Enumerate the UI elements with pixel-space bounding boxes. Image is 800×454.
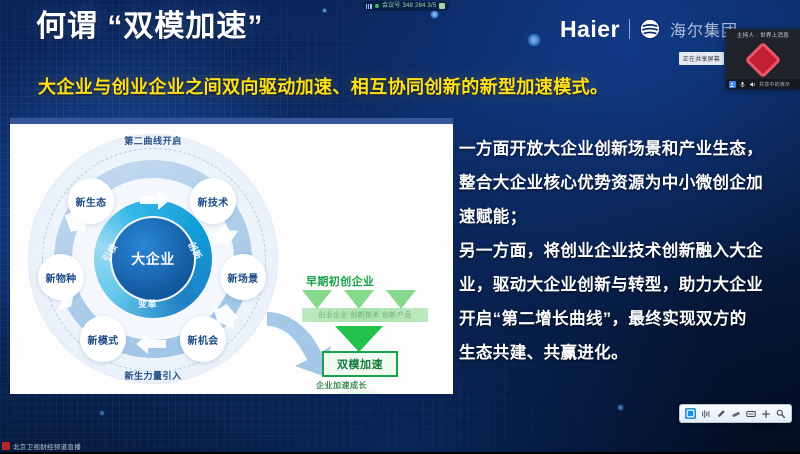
eraser-tool-icon[interactable] — [730, 408, 741, 419]
bokeh-dot — [99, 410, 105, 416]
arrow-down-icon — [335, 326, 383, 352]
brand-lockup: Haier 海尔集团 — [560, 16, 738, 42]
meeting-id-text: 会议号 348 284 3/5 — [382, 1, 436, 11]
annotation-toolbar[interactable] — [679, 404, 792, 423]
signal-icon — [366, 4, 372, 9]
participant-name-bar: 主持人 · 世界上消息 — [726, 29, 800, 41]
brand-divider — [629, 19, 630, 39]
haier-wordmark: Haier — [560, 16, 620, 42]
bokeh-dot — [617, 404, 624, 411]
startup-flow-title: 早期初创企业 — [306, 273, 374, 289]
arrow-tool-icon[interactable] — [760, 408, 771, 419]
startup-ring-diagram: 创业 企业 创业私董会 运营 品牌 培训 导师 — [303, 390, 425, 394]
slide-graphic-card: 大企业 引领 创新 变革 新生态 新技术 新场景 新机会 新模式 新物种 — [10, 118, 453, 394]
spotlight-tool-icon[interactable] — [775, 408, 786, 419]
microphone-icon[interactable] — [739, 81, 746, 88]
paragraph-line: 另一方面，将创业企业技术创新融入大企 — [459, 236, 791, 267]
avatar — [745, 42, 782, 79]
dual-mode-accelerator-box: 双模加速 — [322, 351, 398, 377]
ring-caption-bottom: 新生力量引入 — [28, 369, 278, 382]
participant-status-label: 共享中的演示 — [759, 81, 790, 88]
participants-icon[interactable] — [729, 81, 736, 88]
participant-video-thumbnail[interactable]: 主持人 · 世界上消息 共享中的演示 — [726, 29, 800, 89]
participant-status-bar: 共享中的演示 — [726, 79, 800, 89]
startup-band-label: 创业企业 创新技术 创新产品 — [318, 310, 412, 320]
channel-watermark-label: 北京卫视财经频道直播 — [13, 441, 81, 451]
draw-tool-icon[interactable] — [700, 408, 711, 419]
channel-logo-icon — [2, 442, 10, 450]
screen-share-tag-label: 正在共享屏幕 — [683, 54, 720, 63]
chevron-down-icon — [302, 290, 332, 309]
slide-paragraph: 一方面开放大企业创新场景和产业生态， 整合大企业核心优势资源为中小微创企加 速赋… — [459, 134, 791, 372]
highlighter-tool-icon[interactable] — [715, 408, 726, 419]
slide-title: 何谓 “双模加速” — [36, 9, 263, 45]
paragraph-line: 开启“第二增长曲线”，最终实现双方的 — [459, 304, 791, 335]
dual-mode-accelerator-label: 双模加速 — [337, 356, 383, 372]
bokeh-dot — [527, 33, 541, 47]
slide-card-top-strip — [10, 118, 453, 124]
paragraph-line: 业，驱动大企业创新与转型，助力大企业 — [459, 270, 791, 301]
select-tool-icon[interactable] — [685, 408, 696, 419]
chevron-down-icon — [344, 290, 374, 309]
ring-caption-top: 第二曲线开启 — [28, 134, 278, 147]
startup-band: 创业企业 创新技术 创新产品 — [302, 308, 428, 322]
paragraph-line: 速赋能； — [459, 202, 791, 233]
slide-subtitle: 大企业与创业企业之间双向驱动加速、相互协同创新的新型加速模式。 — [38, 74, 458, 100]
participant-name: 主持人 · 世界上消息 — [737, 31, 789, 39]
haier-emblem-icon — [639, 18, 661, 40]
text-tool-icon[interactable] — [745, 408, 756, 419]
startup-ring-outer — [303, 390, 415, 394]
speaker-icon — [439, 3, 445, 9]
screen-share-view: 会议号 348 284 3/5 何谓 “双模加速” Haier 海尔集团 正在共… — [0, 0, 800, 454]
recording-dot-icon — [375, 4, 379, 8]
paragraph-line: 一方面开放大企业创新场景和产业生态， — [459, 134, 791, 165]
enterprise-ring-diagram: 大企业 引领 创新 变革 新生态 新技术 新场景 新机会 新模式 新物种 — [28, 134, 278, 384]
chevron-down-icon — [386, 290, 416, 309]
paragraph-line: 生态共建、共赢进化。 — [459, 338, 791, 369]
meeting-id-pill: 会议号 348 284 3/5 — [362, 1, 449, 11]
ring-flow-arrows-icon — [28, 134, 278, 384]
channel-watermark: 北京卫视财经频道直播 — [2, 440, 81, 451]
screen-share-tag: 正在共享屏幕 — [679, 52, 724, 65]
speaker-icon[interactable] — [749, 81, 756, 88]
paragraph-line: 整合大企业核心优势资源为中小微创企加 — [459, 168, 791, 199]
